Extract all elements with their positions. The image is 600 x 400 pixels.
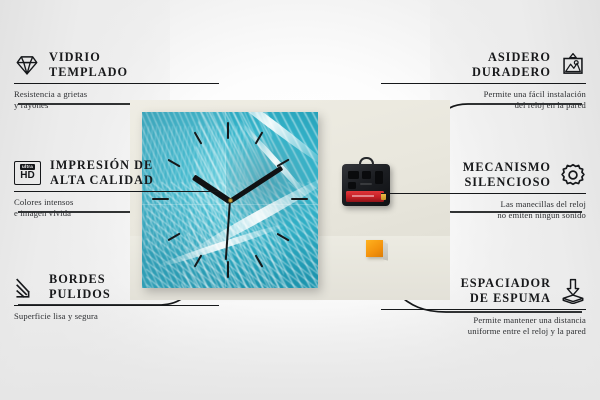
feature-description: Permite mantener una distancia uniforme … bbox=[381, 315, 586, 336]
feature-header: ASIDERO DURADERO bbox=[381, 50, 586, 83]
ultra-hd-badge-icon: ultra HD bbox=[14, 161, 41, 185]
feature-desc-line2: no emiten ningún sonido bbox=[381, 210, 586, 221]
feature-header: VIDRIO TEMPLADO bbox=[14, 50, 219, 83]
feature-vidrio-templado: VIDRIO TEMPLADO Resistencia a grietas y … bbox=[14, 50, 219, 111]
feature-asidero-duradero: ASIDERO DURADERO Permite una fácil insta… bbox=[381, 50, 586, 111]
battery bbox=[346, 191, 384, 202]
feature-title-line1: ASIDERO bbox=[472, 50, 551, 65]
feature-titles: ESPACIADOR DE ESPUMA bbox=[461, 276, 551, 305]
feature-espaciador-de-espuma: ESPACIADOR DE ESPUMA Permite mantener un… bbox=[381, 276, 586, 337]
feature-title-line2: ALTA CALIDAD bbox=[50, 173, 154, 188]
feature-titles: VIDRIO TEMPLADO bbox=[49, 50, 128, 79]
feature-desc-line1: Permite mantener una distancia bbox=[381, 315, 586, 326]
feature-titles: BORDES PULIDOS bbox=[49, 272, 111, 301]
feature-desc-line2: uniforme entre el reloj y la pared bbox=[381, 326, 586, 337]
battery-label-band bbox=[352, 195, 374, 197]
feature-titles: MECANISMO SILENCIOSO bbox=[463, 160, 551, 189]
feature-description: Superficie lisa y segura bbox=[14, 311, 219, 322]
diamond-icon bbox=[14, 52, 40, 78]
hd-badge-large-text: HD bbox=[20, 171, 34, 181]
foam-spacer bbox=[366, 240, 383, 257]
feature-rule bbox=[14, 305, 219, 306]
mechanism-detail-2 bbox=[362, 171, 371, 179]
feature-title-line1: ESPACIADOR bbox=[461, 276, 551, 291]
feature-description: Resistencia a grietas y rayones bbox=[14, 89, 219, 110]
feature-header: ESPACIADOR DE ESPUMA bbox=[381, 276, 586, 309]
feature-bordes-pulidos: BORDES PULIDOS Superficie lisa y segura bbox=[14, 272, 219, 322]
feature-rule bbox=[381, 83, 586, 84]
feature-rule bbox=[381, 193, 586, 194]
feature-header: ultra HD IMPRESIÓN DE ALTA CALIDAD bbox=[14, 158, 219, 191]
feature-description: Colores intensos e imagen vívida bbox=[14, 197, 219, 218]
feature-title-line2: PULIDOS bbox=[49, 287, 111, 302]
feature-header: BORDES PULIDOS bbox=[14, 272, 219, 305]
feature-rule bbox=[14, 83, 219, 84]
arrow-down-onto-pad-icon bbox=[560, 278, 586, 304]
polished-edges-icon bbox=[14, 274, 40, 300]
clock-center-cap bbox=[228, 198, 233, 203]
feature-desc-line1: Colores intensos bbox=[14, 197, 219, 208]
feature-desc-line2: y rayones bbox=[14, 100, 219, 111]
feature-description: Las manecillas del reloj no emiten ningú… bbox=[381, 199, 586, 220]
feature-title-line1: BORDES bbox=[49, 272, 111, 287]
feature-description: Permite una fácil instalación del reloj … bbox=[381, 89, 586, 110]
feature-rule bbox=[381, 309, 586, 310]
hanging-picture-frame-icon bbox=[560, 52, 586, 78]
feature-title-line2: DURADERO bbox=[472, 65, 551, 80]
mechanism-detail-1 bbox=[348, 171, 359, 179]
feature-header: MECANISMO SILENCIOSO bbox=[381, 160, 586, 193]
feature-desc-line1: Resistencia a grietas bbox=[14, 89, 219, 100]
mechanism-highlight bbox=[360, 183, 372, 185]
feature-title-line2: DE ESPUMA bbox=[461, 291, 551, 306]
infographic-stage: VIDRIO TEMPLADO Resistencia a grietas y … bbox=[0, 0, 600, 400]
feature-title-line1: MECANISMO bbox=[463, 160, 551, 175]
foam-spacer-side bbox=[383, 242, 388, 260]
feature-title-line1: VIDRIO bbox=[49, 50, 128, 65]
feature-title-line2: SILENCIOSO bbox=[463, 175, 551, 190]
feature-desc-line1: Permite una fácil instalación bbox=[381, 89, 586, 100]
feature-titles: ASIDERO DURADERO bbox=[472, 50, 551, 79]
feature-rule bbox=[14, 191, 219, 192]
feature-titles: IMPRESIÓN DE ALTA CALIDAD bbox=[50, 158, 154, 187]
feature-impresion-alta-calidad: ultra HD IMPRESIÓN DE ALTA CALIDAD Color… bbox=[14, 158, 219, 219]
feature-desc-line1: Las manecillas del reloj bbox=[381, 199, 586, 210]
feature-mecanismo-silencioso: MECANISMO SILENCIOSO Las manecillas del … bbox=[381, 160, 586, 221]
feature-title-line2: TEMPLADO bbox=[49, 65, 128, 80]
mechanism-detail-4 bbox=[348, 182, 356, 189]
feature-title-line1: IMPRESIÓN DE bbox=[50, 158, 154, 173]
feature-desc-line2: e imagen vívida bbox=[14, 208, 219, 219]
gear-icon bbox=[560, 162, 586, 188]
feature-desc-line1: Superficie lisa y segura bbox=[14, 311, 219, 322]
feature-desc-line2: del reloj en la pared bbox=[381, 100, 586, 111]
